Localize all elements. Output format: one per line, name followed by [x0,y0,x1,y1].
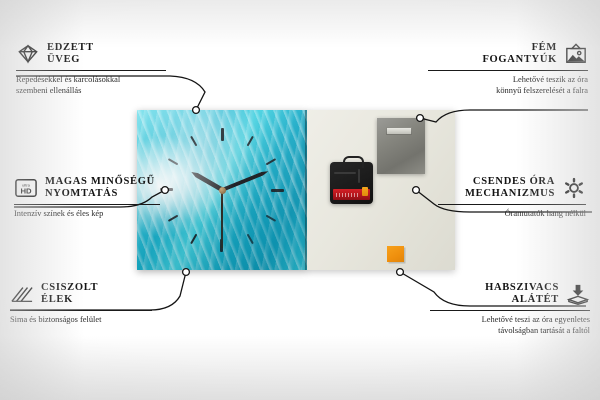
clock-tick-6 [221,190,223,252]
clock-tick-7 [190,190,223,245]
battery-label [336,193,360,197]
foam-pad [387,246,404,262]
feature-foam-backing: HABSZIVACS ALÁTÉT Lehetővé teszi az óra … [430,282,590,336]
mechanism-detail-1 [334,172,356,174]
clock-tick-8 [168,189,223,222]
feature-title: FÉM FOGANTYÚK [482,42,557,66]
clock-tick-4 [222,189,277,222]
feature-title: EDZETT ÜVEG [47,42,94,66]
feature-divider [14,204,160,205]
feature-divider [430,310,590,311]
infographic-canvas: EDZETT ÜVEG Repedésekkel és karcolásokka… [0,0,600,400]
polished-edges-icon [10,283,34,305]
feature-header: CSISZOLT ÉLEK [10,282,150,306]
clock-tick-3 [222,189,284,191]
feature-header: ultra HD MAGAS MINŐSÉGŰ NYOMTATÁS [14,176,158,200]
feature-hd-print: ultra HD MAGAS MINŐSÉGŰ NYOMTATÁS Intenz… [14,176,158,220]
feature-tempered-glass: EDZETT ÜVEG Repedésekkel és karcolásokka… [16,42,166,96]
clock-center-cap [219,187,226,194]
clock-tick-12 [221,128,223,190]
foam-pad-icon [566,283,590,305]
clock-tick-2 [222,158,277,191]
mechanism-hanging-loop [343,156,364,168]
feature-divider [16,70,166,71]
feature-title: MAGAS MINŐSÉGŰ NYOMTATÁS [45,176,155,200]
feature-title: CSISZOLT ÉLEK [41,282,98,306]
feature-polished-edges: CSISZOLT ÉLEK Sima és biztonságos felüle… [10,282,150,326]
battery-positive-terminal [362,187,368,196]
clock-tick-1 [221,136,254,191]
feature-silent-mechanism: CSENDES ÓRA MECHANIZMUS Óramutatók hang … [438,176,586,220]
feature-metal-handles: FÉM FOGANTYÚK Lehetővé teszik az óra kön… [428,42,588,96]
feature-header: FÉM FOGANTYÚK [428,42,588,66]
clock-tick-11 [190,136,223,191]
gear-icon [562,177,586,199]
clock-dial [137,110,307,270]
picture-hanger-icon [564,43,588,65]
clock-second-hand [221,190,223,248]
clock-tick-10 [168,158,223,191]
feature-divider [438,204,586,205]
feature-title: HABSZIVACS ALÁTÉT [485,282,559,306]
feature-divider [428,70,588,71]
feature-title: CSENDES ÓRA MECHANIZMUS [465,176,555,200]
clock-tick-9 [160,189,222,191]
feature-header: EDZETT ÜVEG [16,42,166,66]
feature-header: CSENDES ÓRA MECHANIZMUS [438,176,586,200]
clock-mechanism [330,162,373,204]
clock-minute-hand [221,169,269,191]
clock-tick-5 [221,190,254,245]
hanger-slot [386,127,412,135]
feature-header: HABSZIVACS ALÁTÉT [430,282,590,306]
clock-face-front [137,110,307,270]
product-image [137,110,455,270]
battery [333,189,370,200]
metal-hanger-plate [377,118,425,174]
clock-hour-hand [190,170,224,192]
feature-divider [10,310,152,311]
diamond-icon [16,43,40,65]
mechanism-detail-2 [358,169,360,183]
ultra-hd-icon: ultra HD [14,177,38,199]
svg-text:HD: HD [20,187,32,196]
